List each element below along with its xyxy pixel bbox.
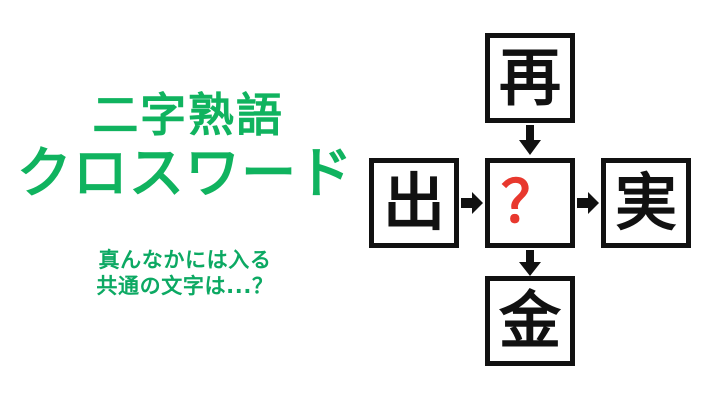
title-block: 二字熟語 クロスワード [0,92,370,201]
arrow-right-icon [577,192,599,214]
puzzle-cell-right: 実 [601,158,691,248]
arrow-right-icon [461,192,483,214]
title-line-1: 二字熟語 [6,92,370,138]
puzzle-cell-bottom-char: 金 [499,290,561,352]
puzzle-cell-left: 出 [369,158,459,248]
puzzle-cell-center[interactable]: ？ [485,158,575,248]
puzzle-cell-left-char: 出 [383,172,445,234]
puzzle-cell-bottom: 金 [485,276,575,366]
puzzle-cell-right-char: 実 [615,172,677,234]
puzzle-cell-center-char: ？ [501,174,559,232]
title-line-2: クロスワード [0,146,370,201]
arrow-down-icon [519,125,541,155]
puzzle-cell-top: 再 [485,33,575,123]
arrow-down-icon [519,250,541,276]
puzzle-canvas: 二字熟語 クロスワード 真んなかには入る 共通の文字は...？ 再 出 ？ 実 … [0,0,720,405]
subtitle-line-1: 真んなかには入る [0,248,370,274]
subtitle-block: 真んなかには入る 共通の文字は...？ [0,248,370,299]
puzzle-cell-top-char: 再 [499,47,561,109]
subtitle-line-2: 共通の文字は...？ [0,274,370,300]
